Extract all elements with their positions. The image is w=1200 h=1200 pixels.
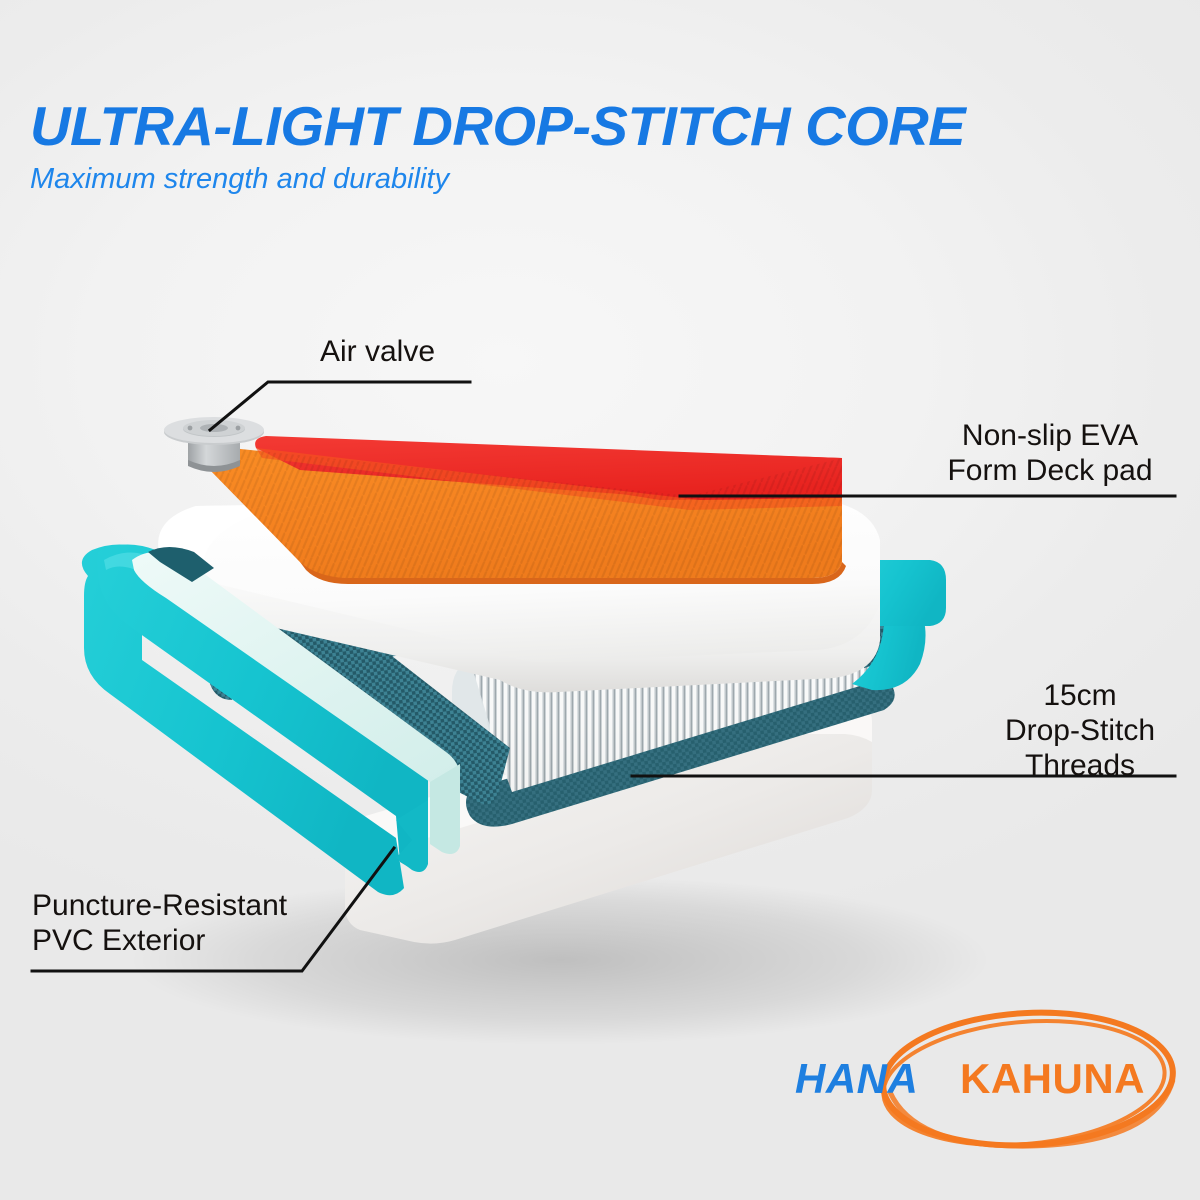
page-subtitle: Maximum strength and durability	[30, 164, 1130, 196]
air-valve-fitting	[164, 417, 264, 472]
header: ULTRA-LIGHT DROP-STITCH CORE Maximum str…	[30, 98, 1130, 196]
layer-pvc-top-skin	[158, 498, 880, 692]
layer-drop-stitch-threads	[452, 528, 890, 792]
logo-text-hana: HANA	[795, 1055, 918, 1103]
page-title: ULTRA-LIGHT DROP-STITCH CORE	[30, 98, 1152, 154]
callout-eva-deck-pad: Non-slip EVA Form Deck pad	[925, 418, 1175, 488]
layer-drop-stitch-fabric-bottom	[466, 674, 895, 827]
infographic-canvas: ULTRA-LIGHT DROP-STITCH CORE Maximum str…	[0, 0, 1200, 1200]
layer-pvc-bottom-skin	[345, 700, 872, 944]
leader-air-valve	[210, 382, 470, 430]
layer-drop-stitch-fabric-top	[163, 548, 896, 804]
brand-logo: HANA KAHUNA	[795, 1000, 1185, 1160]
teal-end-cap-right	[845, 560, 946, 690]
callout-air-valve: Air valve	[320, 334, 435, 369]
callout-drop-stitch-threads: 15cm Drop-Stitch Threads	[985, 678, 1175, 783]
layer-pvc-exterior-wrap	[82, 544, 428, 895]
logo-text-kahuna: KAHUNA	[960, 1055, 1145, 1103]
layer-mint-inner-liner	[132, 547, 460, 854]
callout-pvc-exterior: Puncture-Resistant PVC Exterior	[32, 888, 287, 958]
layer-eva-deck-pad	[203, 436, 846, 584]
